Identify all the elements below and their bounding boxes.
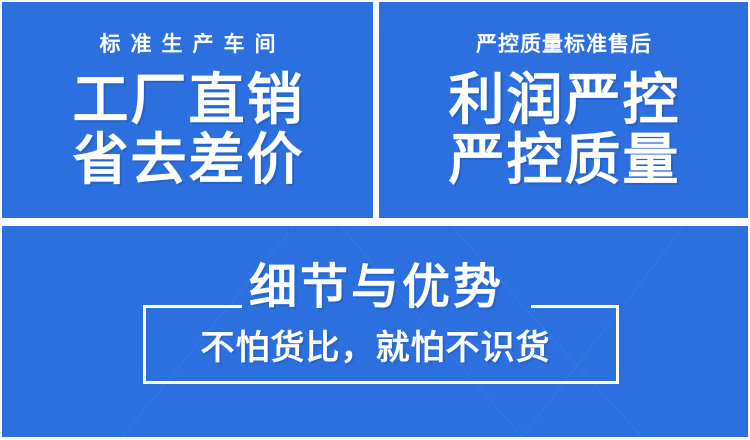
promo-banner: 标准生产车间 工厂直销 省去差价 严控质量标准售后 利润严控 严控质量 [0,0,750,440]
left-panel-eyebrow-row: 标准生产车间 [2,34,373,55]
left-panel-headline-block: 工厂直销 省去差价 [2,70,373,191]
left-panel-headline-line-2: 省去差价 [2,130,373,190]
bottom-panel-subtitle: 不怕货比，就怕不识货 [2,331,748,365]
left-panel-eyebrow: 标准生产车间 [2,34,373,55]
right-panel-eyebrow-row: 严控质量标准售后 [379,34,748,55]
left-panel-headline-line-1: 工厂直销 [2,70,373,130]
right-panel-headline-block: 利润严控 严控质量 [379,70,748,191]
right-panel-headline-line-2: 严控质量 [379,130,748,190]
right-panel-headline-line-1: 利润严控 [379,70,748,130]
bottom-panel-title: 细节与优势 [2,264,748,312]
panel-factory-direct: 标准生产车间 工厂直销 省去差价 [2,2,373,218]
panel-details-advantages: 细节与优势 不怕货比，就怕不识货 [2,226,748,437]
panel-quality-control: 严控质量标准售后 利润严控 严控质量 [379,2,748,218]
frame-bottom-rule [143,381,619,384]
right-panel-eyebrow: 严控质量标准售后 [379,34,748,55]
